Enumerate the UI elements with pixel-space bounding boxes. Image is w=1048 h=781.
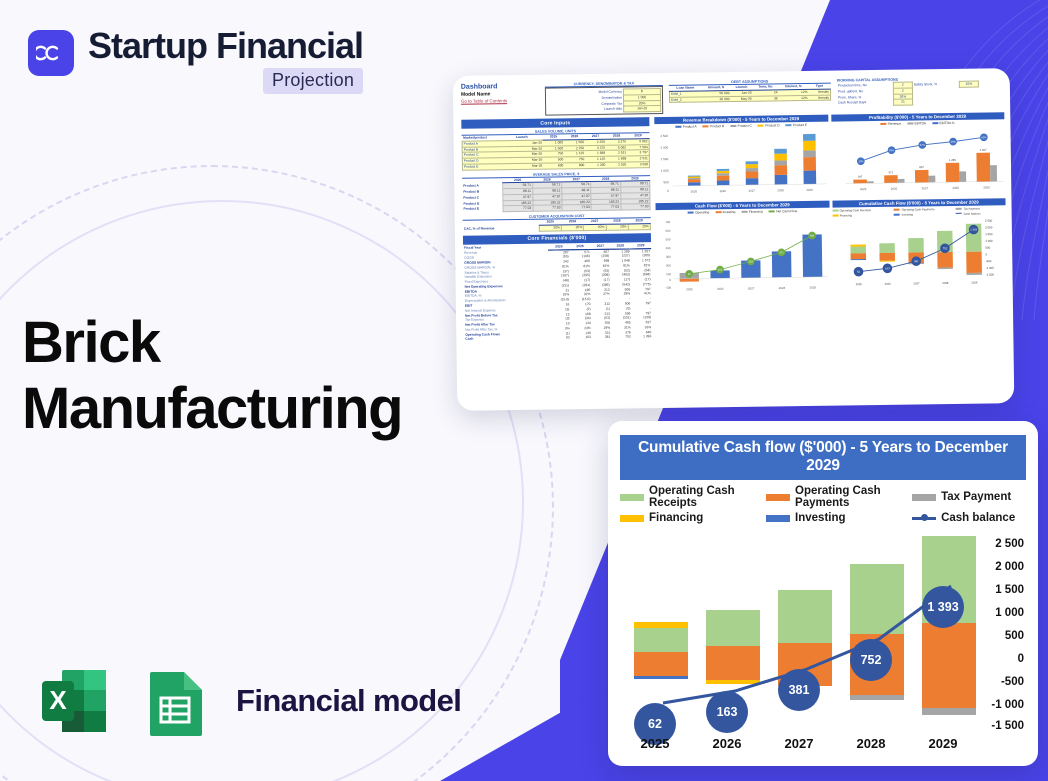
svg-text:2027: 2027 <box>921 186 928 190</box>
table-of-contents-link[interactable]: Go to Table of Contents <box>461 98 539 104</box>
svg-text:32%: 32% <box>889 149 895 152</box>
svg-text:381: 381 <box>913 259 918 263</box>
cash-flow-chart: 700600500400 3002001000-100 <box>656 213 831 293</box>
sales-volume-table: Market/productLaunch 20252026 20272028 2… <box>462 133 650 170</box>
average-price-table: 20252026 20272028 2029 Product A58.7158.… <box>462 176 650 213</box>
svg-text:2025: 2025 <box>691 189 698 193</box>
svg-text:100: 100 <box>666 272 671 276</box>
table-row: Debt_230 000 May-2536 12%Annuity <box>670 95 831 103</box>
svg-text:1 500: 1 500 <box>985 232 993 236</box>
chart-plot-area: 2 500 2 000 1 500 1 000 500 0 -500 -1 00… <box>620 536 1026 751</box>
currency-assumptions-table: Model Currency$ Denomination1 000 Corpor… <box>547 88 661 114</box>
svg-text:2029: 2029 <box>806 188 813 192</box>
brand-title: Startup Financial <box>88 26 363 66</box>
svg-text:1 500: 1 500 <box>661 157 669 161</box>
svg-text:218: 218 <box>749 260 754 263</box>
legend-swatch-operating-cash-payments <box>766 494 790 501</box>
cumulative-cash-flow-small-chart: 2 5002 0001 5001 000 5000-500-1 000-1 50… <box>832 215 1007 293</box>
cumulative-cash-flow-card[interactable]: Cumulative Cash flow ($'000) - 5 Years t… <box>608 421 1038 766</box>
svg-text:2029: 2029 <box>810 286 817 290</box>
debt-assumptions-table: Loan NameAmount, $ LaunchTerm, No Intere… <box>669 84 831 104</box>
revenue-breakdown-chart: 2 5002 0001 500 1 0005000 <box>654 127 828 199</box>
svg-text:0: 0 <box>985 252 987 256</box>
svg-text:2 500: 2 500 <box>985 218 993 222</box>
core-financials-table: Fiscal Year 20252026 20272028 2029 Reven… <box>463 243 652 342</box>
spreadsheet-dashboard: Dashboard Model Name Go to Table of Cont… <box>461 76 1008 405</box>
svg-text:2026: 2026 <box>717 287 724 291</box>
svg-text:2026: 2026 <box>884 281 891 285</box>
svg-text:1 000: 1 000 <box>985 238 993 242</box>
x-tick-2027: 2027 <box>772 736 826 751</box>
svg-text:1 289: 1 289 <box>949 158 956 162</box>
dashboard-screenshot-card[interactable]: Dashboard Model Name Go to Table of Cont… <box>453 68 1015 411</box>
cell: 752 <box>611 335 632 340</box>
legend-item: Financing <box>620 512 766 524</box>
legend-swatch-financing <box>620 515 644 522</box>
table-row: CAC, % of Revenue 20%20% 20%20% 20% <box>463 224 651 232</box>
svg-text:752: 752 <box>942 246 947 250</box>
svg-text:1 927: 1 927 <box>979 148 986 152</box>
chart-title: Cumulative Cash flow ($'000) - 5 Years t… <box>620 435 1026 480</box>
svg-text:500: 500 <box>666 237 671 241</box>
cell: 381 <box>592 335 611 340</box>
svg-text:2 500: 2 500 <box>660 134 668 138</box>
svg-text:2028: 2028 <box>952 186 959 190</box>
svg-text:-1 500: -1 500 <box>985 272 994 276</box>
svg-text:600: 600 <box>666 229 671 233</box>
svg-text:2029: 2029 <box>983 185 990 189</box>
svg-text:163: 163 <box>885 266 890 270</box>
table-row: Launch dateJan-25 <box>547 106 661 113</box>
svg-text:2027: 2027 <box>748 286 755 290</box>
svg-text:1 000: 1 000 <box>661 169 669 173</box>
page-title-line-1: Brick <box>22 310 492 376</box>
x-tick-2025: 2025 <box>628 736 682 751</box>
svg-text:2026: 2026 <box>890 187 897 191</box>
legend-item: Investing <box>766 512 912 524</box>
model-name-label: Model Name <box>461 91 539 98</box>
svg-text:2 000: 2 000 <box>985 225 993 229</box>
brand-lockup: Startup Financial Projection <box>28 26 363 94</box>
cell: 163 <box>571 335 592 340</box>
working-capital-table: Production time, No2 Safety Stock, %10% … <box>837 81 979 107</box>
legend-swatch-tax-payment <box>912 494 936 501</box>
page-title: Brick Manufacturing <box>22 310 492 441</box>
svg-text:X: X <box>49 685 67 715</box>
page-title-line-2: Manufacturing <box>22 376 492 442</box>
svg-text:-100: -100 <box>665 286 671 290</box>
profitability-chart: 10%32%37%39%41% 2975718571 2891 927 2025… <box>831 124 1005 196</box>
svg-text:39%: 39% <box>950 141 956 144</box>
svg-text:2027: 2027 <box>748 189 755 193</box>
microsoft-excel-icon: X <box>36 662 114 740</box>
cash-balance-marker-2028: 752 <box>850 639 892 681</box>
svg-text:2028: 2028 <box>779 286 786 290</box>
svg-text:2028: 2028 <box>777 188 784 192</box>
chart-legend: Operating Cash Receipts Operating Cash P… <box>620 485 1026 524</box>
legend-swatch-cash-balance <box>912 517 936 520</box>
table-row: Product E77.0377.0377.0377.0377.03 <box>463 204 651 212</box>
row-label: Cash <box>464 336 549 342</box>
svg-text:500: 500 <box>985 245 990 249</box>
svg-text:2025: 2025 <box>686 287 693 291</box>
cell: 1 393 <box>632 334 653 339</box>
svg-text:0: 0 <box>667 189 669 193</box>
legend-item: Tax Payment <box>912 485 1026 509</box>
svg-text:2029: 2029 <box>971 280 978 284</box>
chart-bars: 62 163 381 752 1 393 <box>628 536 964 728</box>
svg-text:200: 200 <box>666 263 671 267</box>
svg-text:-1 000: -1 000 <box>985 265 994 269</box>
svg-text:700: 700 <box>665 220 670 224</box>
legend-item: Operating Cash Receipts <box>620 485 766 509</box>
svg-text:571: 571 <box>888 170 893 174</box>
x-tick-2028: 2028 <box>844 736 898 751</box>
svg-text:2027: 2027 <box>913 281 920 285</box>
svg-text:300: 300 <box>666 255 671 259</box>
poster-canvas: Startup Financial Projection Brick Manuf… <box>0 0 1048 781</box>
google-sheets-icon <box>136 662 214 740</box>
x-axis-labels: 2025 2026 2027 2028 2029 <box>628 736 964 756</box>
svg-text:2025: 2025 <box>855 282 862 286</box>
svg-text:400: 400 <box>666 246 671 250</box>
file-format-label: Financial model <box>236 683 461 719</box>
svg-text:2026: 2026 <box>720 189 727 193</box>
svg-text:857: 857 <box>919 165 924 169</box>
svg-text:2028: 2028 <box>942 280 949 284</box>
svg-text:-500: -500 <box>985 259 991 263</box>
svg-text:0: 0 <box>669 278 671 282</box>
legend-item: Cash balance <box>912 512 1026 524</box>
x-tick-2026: 2026 <box>700 736 754 751</box>
svg-text:101: 101 <box>718 269 723 272</box>
svg-text:297: 297 <box>857 175 862 179</box>
file-format-row: X Financial model <box>36 662 461 740</box>
table-row: Product EMar-256009001 3502 0253 038 <box>462 162 649 170</box>
legend-swatch-operating-cash-receipts <box>620 494 644 501</box>
legend-swatch-investing <box>766 515 790 522</box>
svg-text:640: 640 <box>810 235 815 238</box>
svg-text:37%: 37% <box>919 144 925 147</box>
svg-text:10%: 10% <box>858 160 864 163</box>
brand-subtitle-badge: Projection <box>263 68 363 94</box>
svg-text:500: 500 <box>664 180 669 184</box>
cash-balance-marker-2027: 381 <box>778 669 820 711</box>
svg-text:1 393: 1 393 <box>970 227 977 231</box>
spiral-e-logo-icon <box>28 30 74 76</box>
core-inputs-band: Core Inputs <box>461 117 649 129</box>
cash-balance-marker-2029: 1 393 <box>922 586 964 628</box>
legend-item: Operating Cash Payments <box>766 485 912 509</box>
svg-text:2 000: 2 000 <box>660 146 668 150</box>
svg-text:2025: 2025 <box>859 187 866 191</box>
dashboard-heading: Dashboard <box>461 83 539 91</box>
svg-text:371: 371 <box>779 251 784 254</box>
cac-table: 20252026 20272028 2029 CAC, % of Revenue… <box>463 218 651 232</box>
cell: 62 <box>550 336 571 341</box>
cash-balance-marker-2026: 163 <box>706 691 748 733</box>
svg-text:41%: 41% <box>981 136 987 139</box>
x-tick-2029: 2029 <box>916 736 970 751</box>
